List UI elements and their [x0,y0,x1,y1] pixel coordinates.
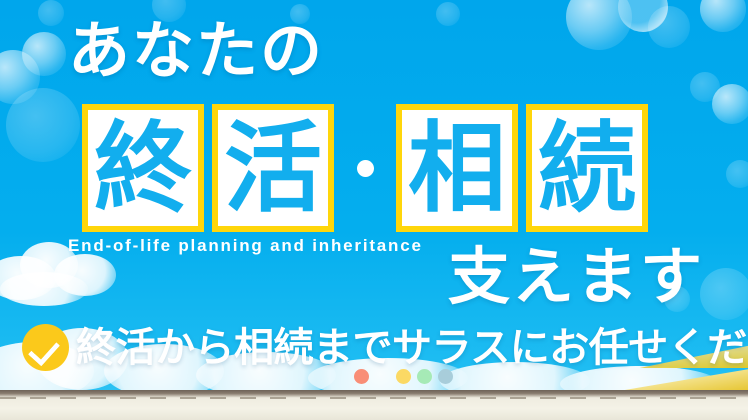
bubble-decoration [712,84,748,124]
headline-tagline: 支えます [448,247,704,309]
kanji-box-shuukatsu-1: 終 [82,104,204,232]
cta-line: 終活から相続までサラスにお任せください [22,324,748,371]
kanji-boxes-row: 終 活 ・ 相 続 [82,104,648,232]
promo-banner: あなたの 終 活 ・ 相 続 End-of-life planning and … [0,0,748,420]
accent-dot [438,369,453,384]
kanji-box-shuukatsu-2: 活 [212,104,334,232]
english-subtitle: End-of-life planning and inheritance [68,236,423,256]
kanji-separator: ・ [342,104,388,232]
bubble-decoration [38,0,64,26]
bubble-decoration [700,0,746,32]
check-icon [22,324,69,371]
kanji-box-souzoku-2: 続 [526,104,648,232]
bubble-decoration [700,268,748,320]
bubble-decoration [436,2,460,26]
bubble-decoration [618,0,668,32]
accent-dot [375,369,390,384]
accent-dot [354,369,369,384]
bubble-decoration [6,88,80,162]
bubble-decoration [22,32,66,76]
bubble-decoration [690,72,720,102]
bubble-decoration [726,160,748,188]
cta-text: 終活から相続までサラスにお任せください [76,328,748,368]
separator-dot-icon: ・ [357,160,374,177]
accent-dots [354,369,453,384]
bubble-decoration [648,6,690,48]
bubble-decoration [566,0,632,50]
headline-kicker: あなたの [68,21,324,83]
kanji-box-souzoku-1: 相 [396,104,518,232]
accent-dot [396,369,411,384]
road-decoration [0,390,748,420]
bubble-decoration [0,50,40,104]
accent-dot [417,369,432,384]
